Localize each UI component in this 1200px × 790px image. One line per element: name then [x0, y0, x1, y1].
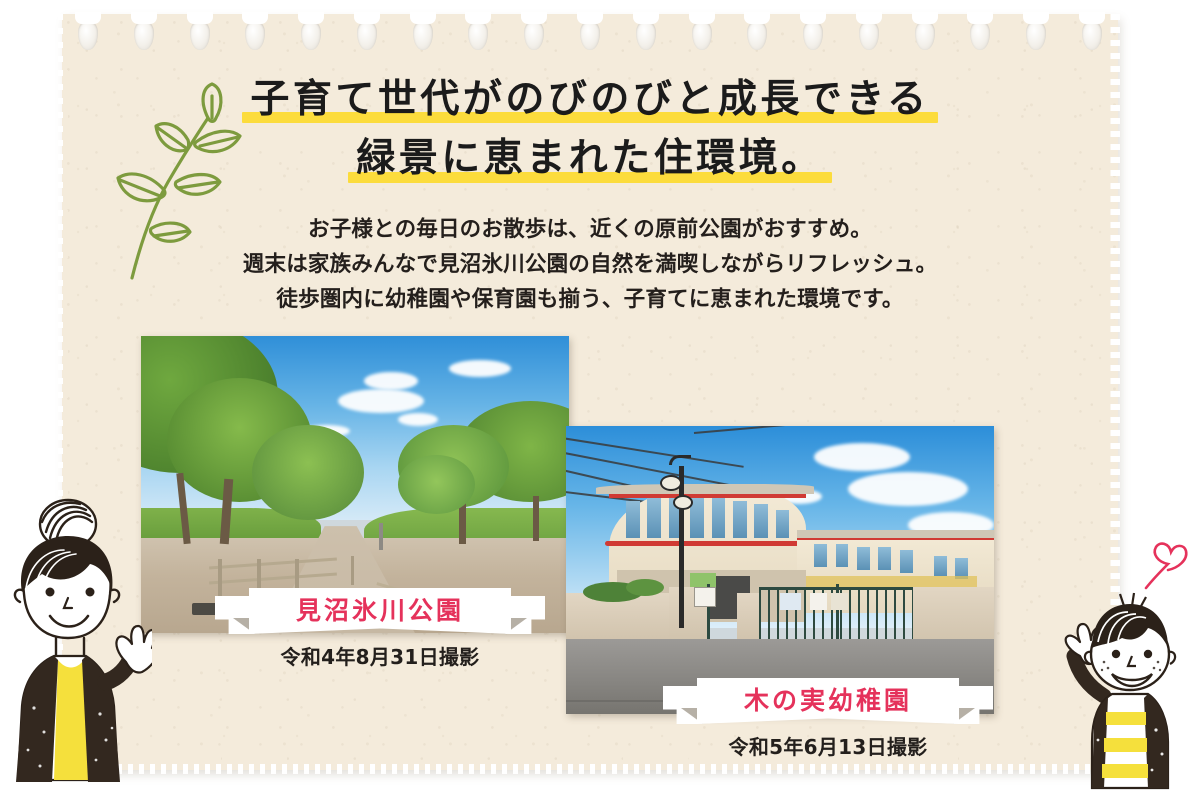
park-caption-date: 令和4年8月31日撮影: [215, 641, 545, 670]
punch-hole: [301, 20, 321, 50]
punch-hole: [357, 20, 377, 50]
punch-hole: [78, 20, 98, 50]
punch-hole: [803, 20, 823, 50]
punch-hole: [468, 20, 488, 50]
punch-hole: [245, 20, 265, 50]
park-ribbon: 見沼氷川公園: [215, 588, 545, 634]
heart-icon: [1142, 540, 1190, 590]
punch-hole: [1026, 20, 1046, 50]
punch-hole: [413, 20, 433, 50]
kindergarten-ribbon: 木の実幼稚園: [663, 678, 993, 724]
punch-hole: [524, 20, 544, 50]
punch-hole: [636, 20, 656, 50]
headline-line-1: 子育て世代がのびのびと成長できる: [250, 72, 929, 127]
body-line-3: 徒歩圏内に幼稚園や保育園も揃う、子育てに恵まれた環境です。: [62, 282, 1118, 317]
headline-line-2: 緑景に恵まれた住環境。: [356, 131, 824, 186]
punch-hole: [1082, 20, 1102, 50]
punch-hole: [190, 20, 210, 50]
body-line-1: お子様との毎日のお散歩は、近くの原前公園がおすすめ。: [62, 212, 1118, 247]
punch-hole: [134, 20, 154, 50]
body-copy: お子様との毎日のお散歩は、近くの原前公園がおすすめ。 週末は家族みんなで見沼氷川…: [62, 212, 1118, 317]
punch-hole: [692, 20, 712, 50]
park-ribbon-label: 見沼氷川公園: [296, 591, 464, 627]
headline-line-2-text: 緑景に恵まれた住環境。: [356, 136, 824, 181]
punch-hole: [915, 20, 935, 50]
kindergarten-caption-date: 令和5年6月13日撮影: [663, 731, 993, 760]
punch-hole-row: [62, 14, 1118, 60]
kindergarten-ribbon-label: 木の実幼稚園: [744, 681, 912, 717]
headline-line-1-text: 子育て世代がのびのびと成長できる: [250, 77, 929, 122]
boy-illustration: [1052, 590, 1192, 790]
promo-page: 子育て世代がのびのびと成長できる 緑景に恵まれた住環境。 お子様との毎日のお散歩…: [0, 0, 1200, 790]
kindergarten-caption: 木の実幼稚園 令和5年6月13日撮影: [663, 678, 993, 760]
punch-hole: [747, 20, 767, 50]
woman-illustration: [2, 492, 152, 790]
park-caption: 見沼氷川公園 令和4年8月31日撮影: [215, 588, 545, 670]
body-line-2: 週末は家族みんなで見沼氷川公園の自然を満喫しながらリフレッシュ。: [62, 247, 1118, 282]
punch-hole: [970, 20, 990, 50]
headline-block: 子育て世代がのびのびと成長できる 緑景に恵まれた住環境。: [62, 72, 1118, 187]
punch-hole: [580, 20, 600, 50]
kindergarten-photo: [566, 426, 994, 714]
punch-hole: [859, 20, 879, 50]
